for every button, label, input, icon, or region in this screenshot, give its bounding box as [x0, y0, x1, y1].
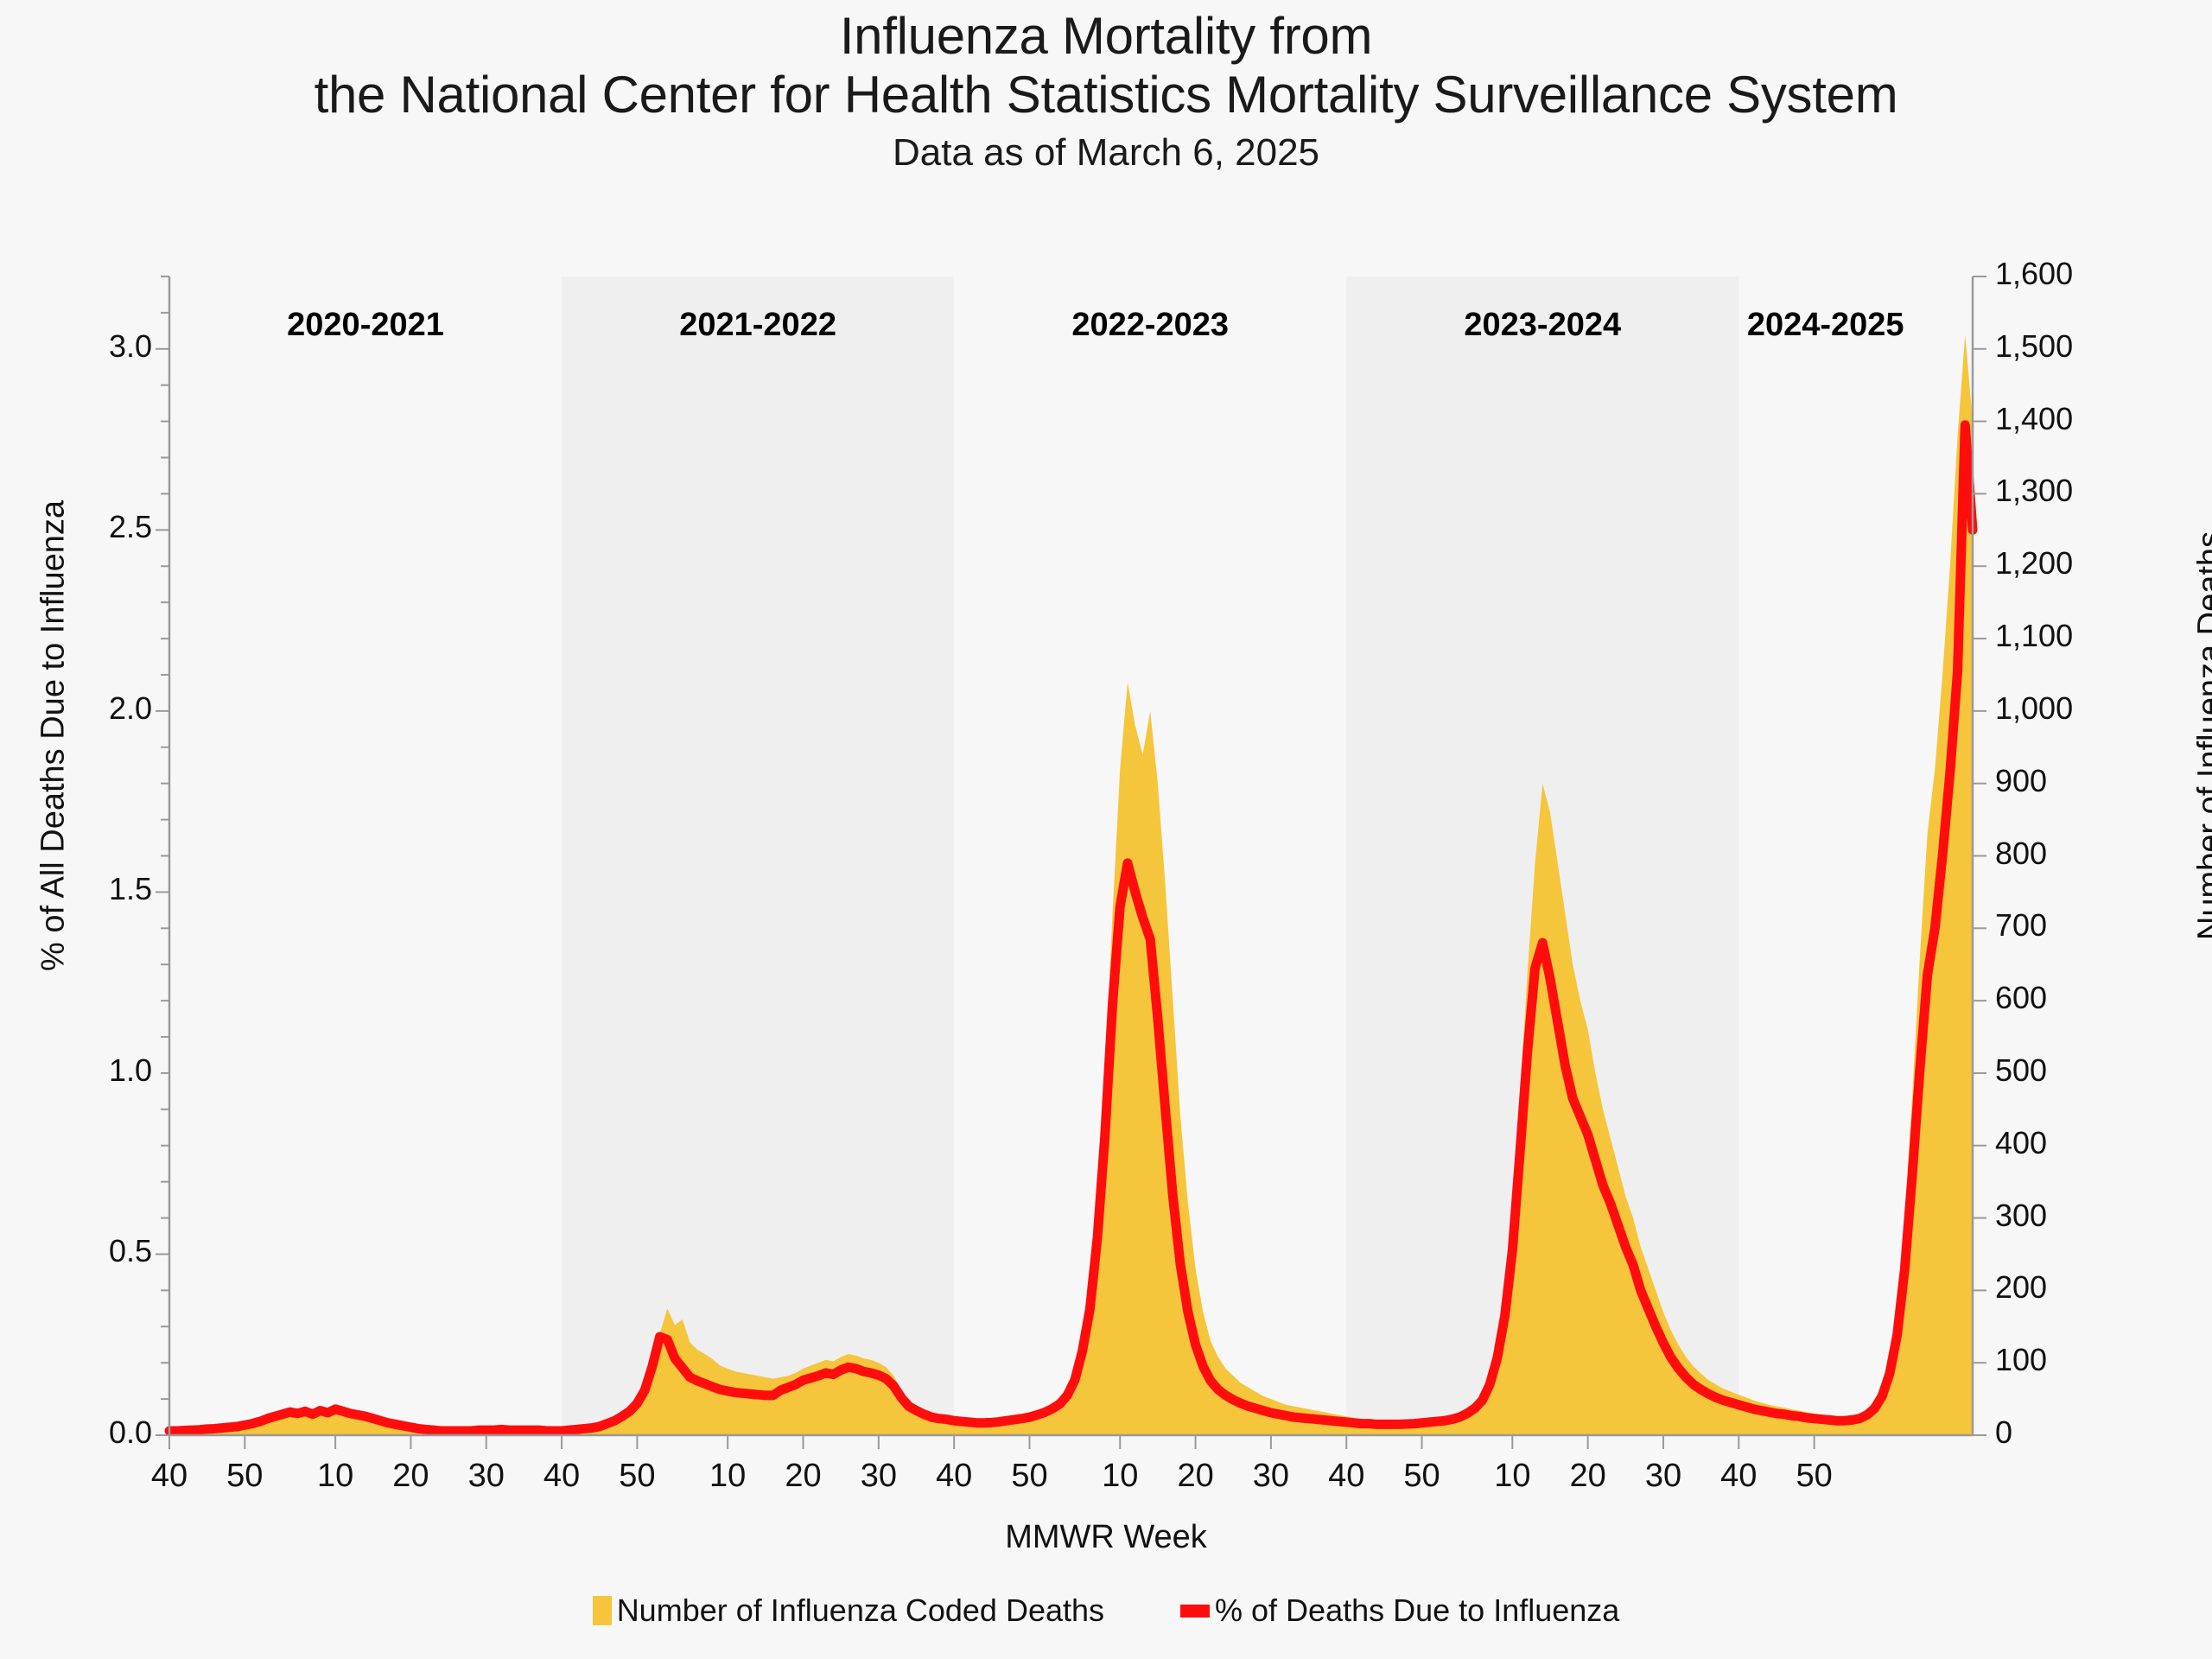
y-right-tick-label: 1,400	[1995, 401, 2133, 437]
x-tick-label: 50	[1780, 1458, 1849, 1495]
y-right-tick-label: 700	[1995, 907, 2133, 944]
x-tick-label: 50	[995, 1458, 1064, 1495]
x-tick-label: 50	[1388, 1458, 1457, 1495]
x-tick-label: 10	[301, 1458, 370, 1495]
legend-label-percent: % of Deaths Due to Influenza	[1215, 1592, 1619, 1629]
y-left-tick-label: 3.0	[5, 328, 152, 365]
y-right-tick-label: 1,100	[1995, 618, 2133, 654]
y-right-tick-label: 500	[1995, 1052, 2133, 1089]
x-tick-label: 30	[844, 1458, 913, 1495]
x-tick-label: 40	[527, 1458, 596, 1495]
y-left-tick-label: 0.5	[5, 1233, 152, 1269]
legend-label-deaths: Number of Influenza Coded Deaths	[617, 1592, 1104, 1629]
y-right-tick-label: 1,000	[1995, 690, 2133, 727]
y-right-tick-label: 200	[1995, 1269, 2133, 1306]
y-left-tick-label: 1.5	[5, 871, 152, 907]
y-right-tick-label: 600	[1995, 980, 2133, 1016]
y-right-tick-label: 300	[1995, 1198, 2133, 1234]
influenza-mortality-chart: Influenza Mortality from the National Ce…	[0, 0, 2212, 1659]
x-tick-label: 50	[602, 1458, 671, 1495]
x-tick-label: 20	[1554, 1458, 1623, 1495]
legend-item-deaths: Number of Influenza Coded Deaths	[593, 1592, 1104, 1629]
x-tick-label: 20	[376, 1458, 445, 1495]
x-tick-label: 50	[210, 1458, 279, 1495]
x-tick-label: 40	[1704, 1458, 1773, 1495]
season-label-2023-2024: 2023-2024	[1413, 307, 1672, 344]
x-tick-label: 40	[1312, 1458, 1381, 1495]
y-left-tick-label: 2.5	[5, 509, 152, 545]
y-right-tick-label: 900	[1995, 763, 2133, 799]
y-right-tick-label: 800	[1995, 836, 2133, 872]
x-tick-label: 30	[1629, 1458, 1698, 1495]
y-right-tick-label: 0	[1995, 1414, 2133, 1451]
x-tick-label: 40	[919, 1458, 988, 1495]
season-label-2021-2022: 2021-2022	[628, 307, 887, 344]
x-tick-label: 40	[135, 1458, 204, 1495]
x-tick-label: 10	[1478, 1458, 1547, 1495]
y-left-tick-label: 0.0	[5, 1414, 152, 1451]
x-tick-label: 30	[1236, 1458, 1306, 1495]
x-tick-label: 20	[1161, 1458, 1230, 1495]
legend-item-percent: % of Deaths Due to Influenza	[1180, 1592, 1619, 1629]
line-swatch-icon	[1180, 1605, 1210, 1618]
y-right-tick-label: 1,200	[1995, 545, 2133, 582]
season-label-2024-2025: 2024-2025	[1696, 307, 1955, 344]
y-right-tick-label: 400	[1995, 1125, 2133, 1161]
season-band-2021-2022	[562, 276, 954, 1435]
y-left-tick-label: 1.0	[5, 1052, 152, 1089]
chart-legend: Number of Influenza Coded Deaths % of De…	[0, 1592, 2212, 1629]
season-label-2022-2023: 2022-2023	[1020, 307, 1280, 344]
x-tick-label: 10	[1085, 1458, 1154, 1495]
x-tick-label: 20	[769, 1458, 838, 1495]
y-right-tick-label: 1,500	[1995, 328, 2133, 365]
x-tick-label: 30	[452, 1458, 521, 1495]
season-label-2020-2021: 2020-2021	[236, 307, 495, 344]
y-right-tick-label: 100	[1995, 1342, 2133, 1378]
y-right-tick-label: 1,600	[1995, 256, 2133, 292]
x-tick-label: 10	[693, 1458, 762, 1495]
plot-svg	[0, 0, 2212, 1659]
y-right-tick-label: 1,300	[1995, 473, 2133, 509]
y-left-tick-label: 2.0	[5, 690, 152, 727]
area-swatch-icon	[593, 1596, 612, 1625]
